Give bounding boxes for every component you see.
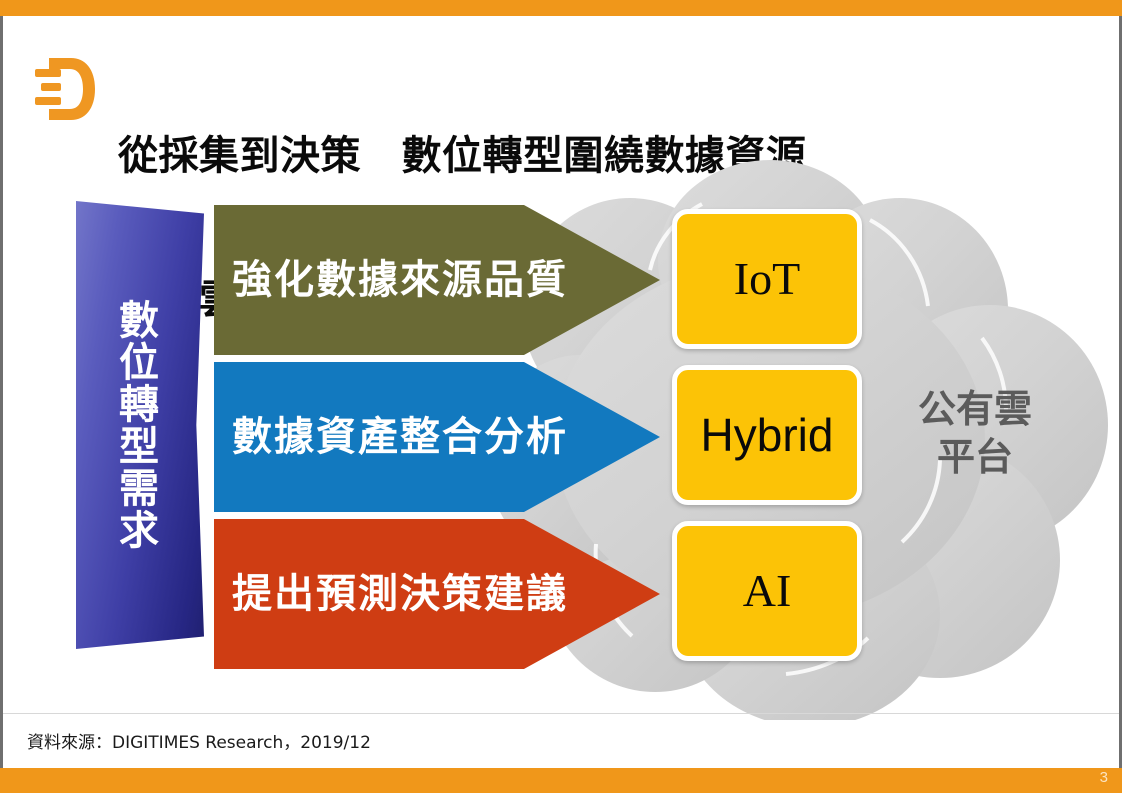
- service-box-ai: AI: [672, 521, 862, 661]
- transformation-needs-banner: 數位轉型需求: [76, 201, 204, 649]
- arrow-label-2: 提出預測決策建議: [214, 571, 568, 617]
- service-label-1: Hybrid: [701, 412, 834, 458]
- cloud-caption-line-1: 公有雲: [880, 385, 1070, 433]
- service-label-2: AI: [743, 568, 792, 614]
- slide-canvas: 從採集到決策 數位轉型圍繞數據資源 公有雲服務對焦企業三大轉型需求: [0, 0, 1122, 793]
- cloud-caption-line-2: 平台: [880, 433, 1070, 481]
- arrow-label-1: 數據資產整合分析: [214, 414, 568, 460]
- left-border-rule: [0, 16, 3, 768]
- service-box-hybrid: Hybrid: [672, 365, 862, 505]
- page-number: 3: [1100, 769, 1108, 786]
- footer-divider: [3, 713, 1119, 714]
- arrow-label-0: 強化數據來源品質: [214, 257, 568, 303]
- digitimes-d-logo-icon: [33, 52, 95, 126]
- source-footnote: 資料來源：DIGITIMES Research，2019/12: [27, 728, 371, 753]
- service-box-iot: IoT: [672, 209, 862, 349]
- transformation-needs-label: 數位轉型需求: [76, 201, 204, 649]
- service-label-0: IoT: [734, 256, 800, 302]
- bottom-accent-bar: [0, 768, 1122, 793]
- top-accent-bar: [0, 0, 1122, 16]
- cloud-caption: 公有雲 平台: [880, 385, 1070, 481]
